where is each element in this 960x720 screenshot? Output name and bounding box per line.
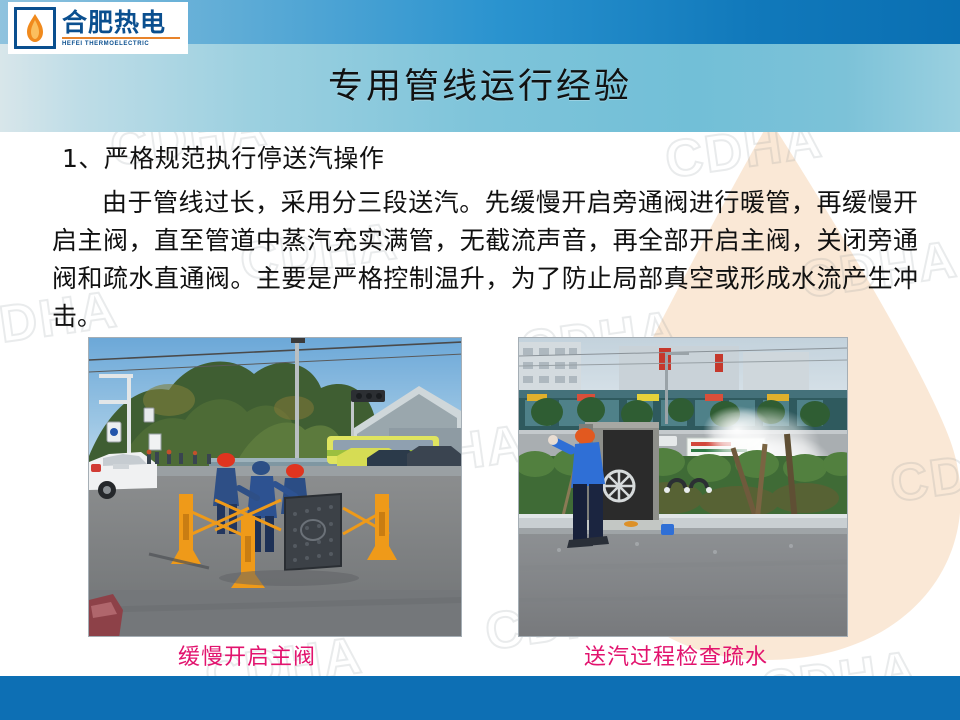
footer-bar xyxy=(0,676,960,720)
photo-caption-right: 送汽过程检查疏水 xyxy=(584,639,768,671)
body-paragraph: 由于管线过长，采用分三段送汽。先缓慢开启旁通阀进行暖管，再缓慢开启主阀，直至管道… xyxy=(52,184,918,336)
title-band: 专用管线运行经验 xyxy=(0,44,960,132)
photo-caption-left: 缓慢开启主阀 xyxy=(178,639,316,671)
page-title: 专用管线运行经验 xyxy=(328,70,632,107)
slide-root: CDHA CDHA CDHA CDHA CDHA CDHA CDHA CDHA … xyxy=(0,0,960,720)
flame-logo-icon xyxy=(14,7,56,49)
logo-divider xyxy=(62,37,180,39)
section-heading: 1、严格规范执行停送汽操作 xyxy=(62,140,384,178)
logo-chinese-name: 合肥热电 xyxy=(62,10,180,36)
company-logo: 合肥热电 HEFEI THERMOELECTRIC xyxy=(8,2,188,54)
photo-check-drainage-during-steam-supply xyxy=(518,337,848,637)
photo-slowly-open-main-valve xyxy=(88,337,462,637)
logo-english-name: HEFEI THERMOELECTRIC xyxy=(62,40,180,48)
